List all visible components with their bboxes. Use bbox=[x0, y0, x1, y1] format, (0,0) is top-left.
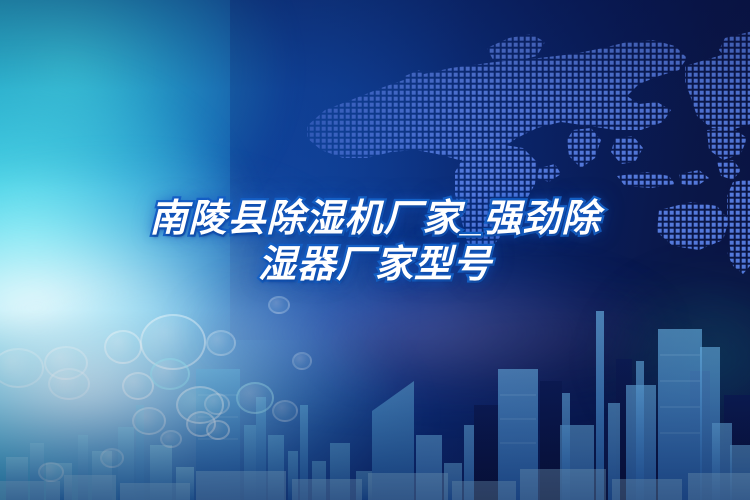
headline-line-2: 湿器厂家型号 bbox=[0, 242, 750, 288]
banner-headline: 南陵县除湿机厂家_强劲除 湿器厂家型号 bbox=[0, 196, 750, 288]
promo-banner: 南陵县除湿机厂家_强劲除 湿器厂家型号 bbox=[0, 0, 750, 500]
city-skyline bbox=[0, 285, 750, 500]
headline-line-1: 南陵县除湿机厂家_强劲除 bbox=[0, 196, 750, 242]
